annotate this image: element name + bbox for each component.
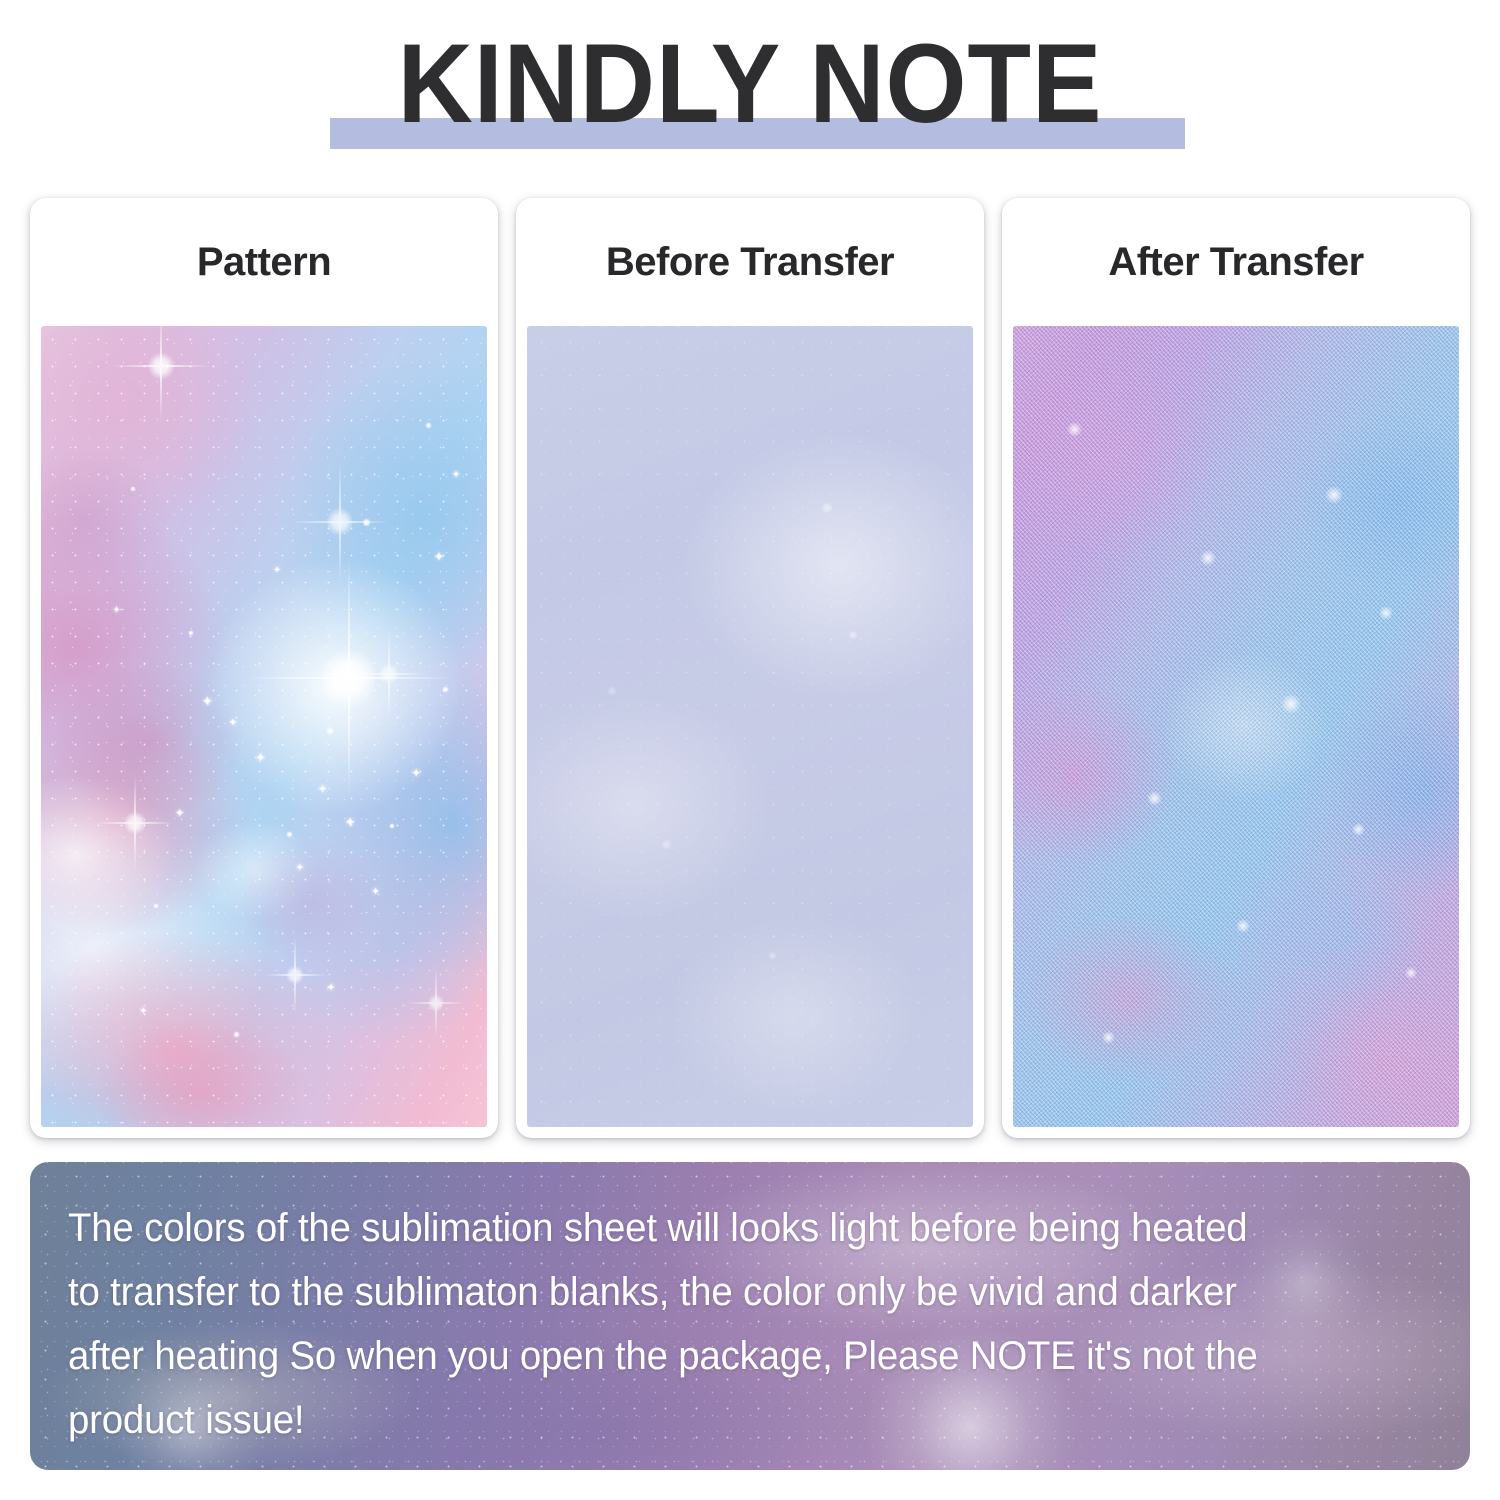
page-header: KINDLY NOTE: [0, 0, 1500, 180]
fabric-sparkle: [1067, 422, 1082, 437]
star-glyph: ✦: [411, 767, 421, 779]
fabric-sparkle: [1352, 823, 1365, 836]
card-after-transfer-title: After Transfer: [1002, 198, 1470, 326]
card-before-transfer-title: Before Transfer: [516, 198, 984, 326]
star-glyph: ✦: [112, 606, 120, 616]
star-glyph: ✦: [175, 807, 185, 819]
pattern-image: ✦ ✦ ✦ ✦ ✦ ✦ ✦ ✦ ✦ ✦ ✦ ✦ ✦ ✦ ✦: [41, 326, 487, 1127]
sparkle: [389, 823, 395, 829]
fabric-sparkle: [1147, 791, 1162, 806]
star-glyph: ✦: [202, 694, 214, 708]
star-glyph: ✦: [326, 983, 335, 994]
sparkle: [233, 1031, 240, 1038]
fabric-weave-texture: [1013, 326, 1459, 1127]
star-glyph: ✦: [344, 815, 356, 829]
note-text-block: The colors of the sublimation sheet will…: [68, 1196, 1391, 1452]
star-glyph: ✦: [255, 751, 266, 764]
note-line-2: to transfer to the sublimaton blanks, th…: [68, 1260, 1391, 1324]
sparkle: [425, 422, 432, 429]
faint-sparkle: [661, 839, 672, 850]
star-glyph: ✦: [433, 550, 444, 563]
star-dust-overlay: [41, 326, 487, 1127]
sparkle: [286, 831, 293, 838]
star-glyph: ✦: [451, 470, 460, 481]
fabric-sparkle: [1281, 694, 1301, 714]
faint-sparkle: [768, 951, 777, 960]
card-before-transfer[interactable]: Before Transfer: [516, 198, 984, 1138]
before-transfer-image: [527, 326, 973, 1127]
note-line-3: after heating So when you open the packa…: [68, 1324, 1391, 1388]
comparison-cards-row: Pattern: [30, 198, 1470, 1138]
fabric-sparkle: [1236, 919, 1250, 933]
sparkle: [326, 727, 334, 735]
card-pattern[interactable]: Pattern: [30, 198, 498, 1138]
pale-dust-overlay: [527, 326, 973, 1127]
star-glyph: ✦: [228, 718, 237, 729]
fabric-sparkle: [1102, 1031, 1115, 1044]
star-glyph: ✦: [273, 566, 281, 576]
note-line-1: The colors of the sublimation sheet will…: [68, 1196, 1391, 1260]
note-line-4: product issue!: [68, 1388, 1391, 1452]
star-glyph: ✦: [371, 887, 380, 898]
kindly-note-banner: The colors of the sublimation sheet will…: [30, 1162, 1470, 1470]
page-title: KINDLY NOTE: [53, 24, 1448, 144]
card-after-transfer[interactable]: After Transfer: [1002, 198, 1470, 1138]
star-glyph: ✦: [139, 1007, 147, 1017]
after-transfer-image: [1013, 326, 1459, 1127]
fabric-sparkle: [1379, 606, 1393, 620]
star-glyph: ✦: [318, 783, 328, 795]
card-pattern-title: Pattern: [30, 198, 498, 326]
sparkle: [153, 903, 159, 909]
star-glyph: ✦: [295, 863, 304, 874]
